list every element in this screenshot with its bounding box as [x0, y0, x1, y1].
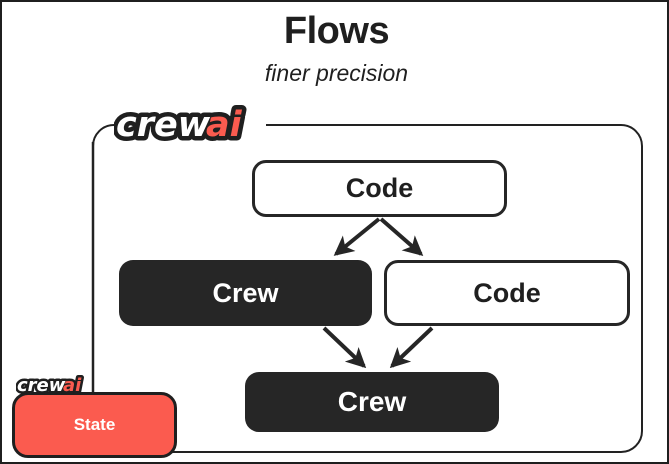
node-code-top[interactable]: Code: [252, 160, 507, 217]
crewai-logo: crew ai crew ai: [114, 100, 274, 148]
node-code-mid[interactable]: Code: [384, 260, 630, 326]
node-state-label: State: [74, 415, 116, 435]
node-state[interactable]: State: [12, 392, 177, 458]
diagram-canvas: Flows finer precision Code Crew Code Cre…: [0, 0, 669, 464]
crewai-logo-ai-text: ai: [206, 105, 243, 145]
node-crew-bot-label: Crew: [338, 386, 406, 418]
crewai-logo-small-ai-text: ai: [63, 375, 82, 396]
page-title: Flows: [2, 10, 669, 53]
node-crew-bot[interactable]: Crew: [245, 372, 499, 432]
node-code-mid-label: Code: [473, 278, 541, 309]
node-code-top-label: Code: [346, 173, 414, 204]
node-crew-mid-label: Crew: [212, 278, 278, 309]
crewai-logo-crew-text: crew: [116, 105, 211, 145]
node-crew-mid[interactable]: Crew: [119, 260, 372, 326]
page-subtitle: finer precision: [2, 60, 669, 87]
crewai-logo-small: crew ai crew ai: [16, 372, 94, 398]
crewai-logo-small-crew-text: crew: [17, 375, 66, 396]
